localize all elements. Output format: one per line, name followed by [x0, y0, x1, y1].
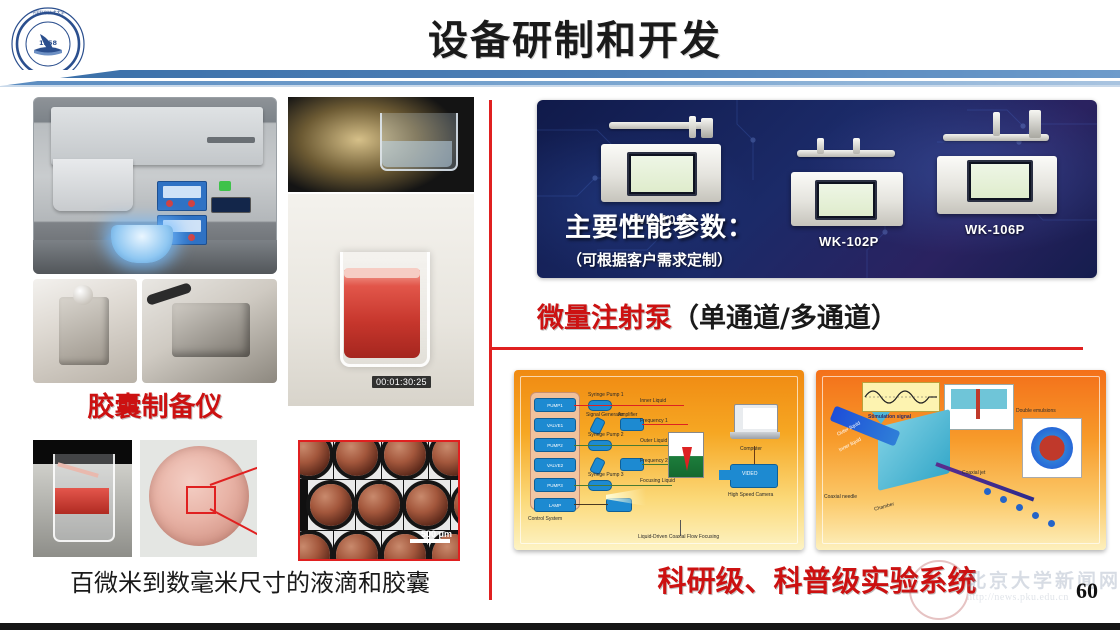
- flow-focusing-schematic: PUMP1 VALVE1 PUMP2 VALVE2 PUMP3 LAMP Syr…: [514, 370, 804, 550]
- valve-component-photo-1: [33, 279, 137, 383]
- pump-touchscreen: [967, 160, 1033, 202]
- capsule: [298, 531, 333, 561]
- watermark-url: http://news.pku.edu.cn: [967, 592, 1069, 603]
- node-valve1: VALVE1: [534, 418, 576, 432]
- droplet: [1048, 520, 1055, 527]
- bottom-letterbox-bar: [0, 623, 1120, 630]
- vertical-divider: [489, 100, 492, 600]
- machine-slot: [207, 137, 255, 143]
- capsule: [356, 480, 403, 529]
- video-red-suspension: [344, 270, 420, 358]
- node-valve2: VALVE2: [534, 458, 576, 472]
- caption-syringe-pump-black: （单通道/多通道）: [672, 303, 898, 334]
- droplet: [984, 488, 991, 495]
- video-liquid: [382, 141, 452, 167]
- capsule: [298, 440, 333, 479]
- header-rule-tertiary: [0, 85, 1120, 87]
- capsule: [334, 531, 381, 561]
- device-label-wk-106p: WK-106P: [965, 222, 1025, 237]
- petri-dish-photo: [140, 440, 257, 557]
- label-syringe-pump-1: Syringe Pump 1: [588, 392, 624, 398]
- valve-body: [59, 297, 109, 365]
- pump-touchscreen: [627, 152, 697, 196]
- wire-outer-liquid: [574, 445, 674, 446]
- label-outer-liquid: Outer Liquid: [640, 438, 667, 444]
- coaxial-jet-schematic: Stimulation signal Outer liquid Inner li…: [816, 370, 1106, 550]
- label-liquid-driven-coaxial: Liquid-Driven Coaxial Flow Focusing: [638, 534, 719, 540]
- label-inner-liquid: Inner Liquid: [640, 398, 666, 404]
- machine-body: [51, 107, 263, 165]
- capsule: [334, 440, 381, 479]
- label-frequency-2: Frequency 2: [640, 458, 668, 464]
- device-wk-101p: [601, 116, 721, 202]
- waveform-icon: [863, 383, 939, 411]
- node-pump3: PUMP3: [534, 478, 576, 492]
- header-rule-primary: [0, 70, 1120, 78]
- label-high-speed-camera: High Speed Camera: [728, 492, 773, 498]
- page-title: 设备研制和开发: [0, 8, 1120, 66]
- device-label-wk-102p: WK-102P: [819, 234, 879, 249]
- node-pump1: PUMP1: [534, 398, 576, 412]
- capsule-micrograph: 500 μm: [298, 440, 460, 561]
- pump-rail: [609, 122, 713, 129]
- label-coaxial-jet: Coaxial jet: [962, 470, 985, 476]
- scale-bar: [410, 539, 450, 543]
- device-wk-102p: [791, 146, 903, 226]
- banner-heading: 主要性能参数：: [565, 207, 754, 244]
- device-wk-106p: [937, 124, 1057, 214]
- page-number: 60: [1076, 578, 1098, 604]
- capsule: [451, 480, 460, 529]
- pump-post: [689, 116, 696, 138]
- flow-focusing-nozzle: [668, 432, 704, 478]
- machine-display: [211, 197, 251, 213]
- node-lamp: LAMP: [534, 498, 576, 512]
- scale-bar-label: 500 μm: [421, 529, 452, 539]
- caption-capsule-maker: 胶囊制备仪: [33, 385, 277, 424]
- machine-drawer: [53, 159, 133, 211]
- caption-syringe-pump-red: 微量注射泵: [537, 303, 672, 334]
- label-syringe-pump-2: Syringe Pump 2: [588, 432, 624, 438]
- lab-video-still-beaker: 00:01:30:25: [288, 194, 474, 406]
- nozzle-jet: [976, 389, 980, 419]
- status-led: [219, 181, 231, 191]
- computer-illustration: [730, 404, 780, 442]
- valve-component-photo-2: [142, 279, 277, 383]
- droplet-beaker-photo: [33, 440, 132, 557]
- lab-video-still-top: [288, 97, 474, 192]
- capsule: [308, 480, 355, 529]
- pump-post: [993, 112, 1000, 136]
- valve-knob: [73, 285, 93, 305]
- valve-block: [172, 303, 250, 357]
- wire-frequency-1: [642, 424, 688, 425]
- video-foam-layer: [344, 268, 420, 278]
- capsule: [404, 480, 451, 529]
- stimulation-waveform-box: [862, 382, 940, 412]
- droplet: [1000, 496, 1007, 503]
- pump-clamp: [701, 118, 713, 138]
- site-watermark: 北京大学新闻网 http://news.pku.edu.cn: [905, 556, 1105, 624]
- watermark-logo-icon: [909, 560, 969, 620]
- wire-inner-liquid: [574, 405, 684, 406]
- label-stimulation-signal: Stimulation signal: [868, 414, 911, 420]
- video-timestamp: 00:01:30:25: [372, 376, 431, 388]
- label-frequency-1: Frequency 1: [640, 418, 668, 424]
- beaker-red-droplets: [55, 488, 109, 514]
- capsule-maker-photo: [33, 97, 277, 274]
- capsule: [429, 440, 460, 479]
- caption-syringe-pump: 微量注射泵（单通道/多通道）: [537, 296, 1097, 335]
- banner-subheading: （可根据客户需求定制）: [567, 249, 732, 270]
- droplet: [1016, 504, 1023, 511]
- pump-post: [853, 138, 860, 154]
- double-emulsion-inset: [1022, 418, 1082, 478]
- label-computer: Computer: [740, 446, 762, 452]
- pump-touchscreen: [815, 180, 877, 220]
- nozzle-zoom-inset: [944, 384, 1014, 430]
- pump-post: [817, 138, 824, 154]
- label-focusing-liquid: Focusing Liquid: [640, 478, 675, 484]
- label-syringe-pump-3: Syringe Pump 3: [588, 472, 624, 478]
- label-amplifier: Amplifier: [618, 412, 637, 418]
- pump-clamp: [1029, 110, 1041, 138]
- label-double-emulsions: Double emulsions: [1016, 408, 1056, 414]
- wire-lamp: [574, 504, 608, 505]
- label-coaxial-needle: Coaxial needle: [824, 494, 857, 500]
- horizontal-divider: [491, 347, 1083, 350]
- label-control-system: Control System: [528, 516, 562, 522]
- label-video: VIDEO: [742, 471, 758, 477]
- syringe-pump-product-banner: WK-101P WK-102P WK-106P 主要性能参数： （可根据客户需求…: [537, 100, 1097, 278]
- droplet: [1032, 512, 1039, 519]
- caption-droplets-capsules: 百微米到数毫米尺寸的液滴和胶囊: [20, 563, 480, 598]
- wire-focusing-liquid: [574, 485, 672, 486]
- slide-root: 1958 中国科学技术大学 University of Science and …: [0, 0, 1120, 630]
- page-title-text: 设备研制和开发: [398, 18, 722, 64]
- node-pump2: PUMP2: [534, 438, 576, 452]
- control-panel-upper: [157, 181, 207, 211]
- pump-rail: [797, 150, 895, 157]
- capsule: [382, 440, 429, 479]
